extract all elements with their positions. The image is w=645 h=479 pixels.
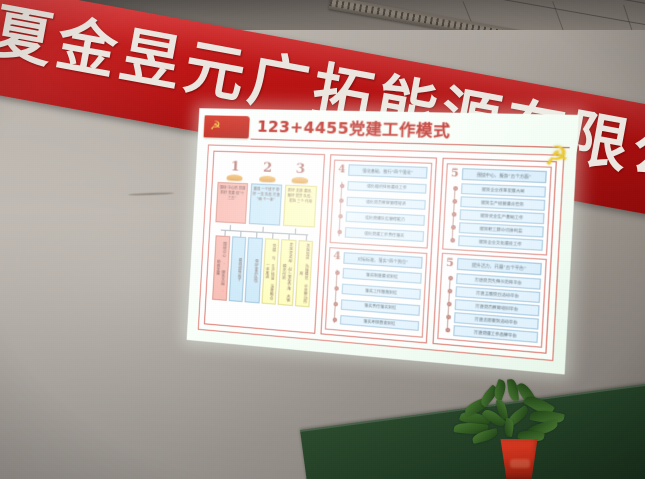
section-4b-items: 落实制度建设到位 落实工作措施到位 落实责任落实到位	[329, 265, 422, 334]
section-title: 围绕中心、服务“五个方面”	[462, 168, 547, 183]
bullet-icon	[446, 328, 451, 333]
cap-icon-3	[292, 177, 309, 184]
bullet-icon	[340, 183, 344, 187]
bullet-icon	[453, 199, 458, 204]
list-item: 强化党建工作责任落实	[338, 227, 425, 242]
section-number: 4	[338, 164, 346, 175]
number-2: 2	[263, 161, 273, 175]
list-item: 强化党建队伍管理能力	[338, 211, 425, 225]
item-label: 落实考核督查到位	[340, 315, 419, 332]
item-label: 落实工作措施到位	[342, 284, 421, 300]
panel-core-model: 1 2 3 围绕 中心抓 党建 抓好 党建 促“十三五” 建强 一个班子 带好 …	[204, 151, 325, 334]
cpc-flag-icon: ☭	[204, 115, 250, 138]
list-item: 强化组织体系建设工作	[340, 180, 427, 194]
bullet-icon	[333, 317, 337, 322]
item-label: 强化党建队伍管理能力	[346, 212, 425, 226]
panel-left-columns: 围绕中心 · 服务大局 · 助推发展 建强领导班子 带好党员队伍 党建 与 生产…	[209, 235, 316, 307]
section-4a-header: 4 强化基础、推行“四个强化”	[338, 164, 428, 179]
item-label: 强化组织体系建设工作	[347, 181, 426, 194]
section-5b-items: 打造党员先锋示范岗平台 打造主题党日活动平台 打造党员教育培训平台	[442, 271, 541, 344]
item-label: 服务企业改革发展大局	[461, 184, 546, 198]
section-number: 4	[333, 252, 341, 263]
item-label: 落实制度建设到位	[343, 268, 422, 283]
pot-highlight	[510, 459, 530, 468]
section-number: 5	[446, 258, 454, 269]
bullet-icon	[338, 230, 342, 234]
bullet-icon	[339, 199, 343, 203]
detail-column-6: 发挥党员 先锋模范 示范带动作用	[295, 240, 314, 307]
item-label: 强化党员教育管理培训	[347, 196, 426, 210]
panel-sections-right: 5 围绕中心、服务“五个方面” 服务企业改革发展大局 服务生产经营重点任务	[433, 158, 557, 354]
presentation-slide: ☭ 123+4455党建工作模式 ☭ 1 2 3	[187, 108, 579, 374]
flag-emblem-glyph: ☭	[209, 119, 222, 132]
panel-left-boxes: 围绕 中心抓 党建 抓好 党建 促“十三五” 建强 一个班子 带好 一支 队伍 …	[213, 181, 319, 229]
bullet-icon	[447, 302, 452, 307]
section-title: 强化基础、推行“四个强化”	[348, 164, 428, 179]
bullet-icon	[452, 212, 457, 217]
projection-screen: ☭ 123+4455党建工作模式 ☭ 1 2 3	[187, 108, 579, 374]
item-label: 服务安全生产基础工作	[460, 209, 545, 224]
bullet-icon	[453, 186, 458, 191]
section-4b: 4 对标标准、落实“四个到位” 落实制度建设到位 落实工作措施到位	[325, 247, 427, 338]
section-4a-items: 强化组织体系建设工作 强化党员教育管理培训 强化党建队伍管理能力	[334, 178, 427, 245]
section-5a-header: 5 围绕中心、服务“五个方面”	[451, 168, 547, 184]
section-5a: 5 围绕中心、服务“五个方面” 服务企业改革发展大局 服务生产经营重点任务	[442, 163, 552, 255]
item-label: 服务企业文化建设工作	[458, 235, 543, 250]
bullet-icon	[339, 214, 343, 218]
hammer-sickle-emblem-icon: ☭	[544, 144, 570, 171]
item-label: 强化党建工作责任落实	[345, 227, 424, 241]
section-5a-items: 服务企业改革发展大局 服务生产经营重点任务 服务安全生产基础工作	[447, 182, 546, 252]
section-5b: 5 提升活力、开展“五个平台” 打造党员先锋示范岗平台 打造主题党日活动平台	[437, 253, 547, 348]
list-item: 落实制度建设到位	[335, 268, 422, 284]
bullet-icon	[334, 302, 338, 307]
detail-column-3: 带好党员队伍	[245, 237, 263, 303]
bullet-icon	[448, 276, 453, 281]
potted-plant	[452, 383, 582, 479]
room-photo-scene: 夏金昱元广拓能源有限公司党员大会 ☭ 123+4455党建工作模式 ☭ 1 2 …	[0, 0, 645, 479]
section-number: 5	[451, 168, 459, 179]
list-item: 落实责任落实到位	[334, 299, 421, 316]
bullet-icon	[451, 225, 456, 230]
bullet-icon	[450, 238, 455, 243]
bullet-icon	[335, 286, 339, 290]
detail-column-4: 党建 与 生产经营 深度融合 一体推进	[261, 238, 279, 305]
number-1: 1	[231, 160, 241, 173]
detail-column-2: 建强领导班子	[228, 236, 246, 302]
concept-box-2: 建强 一个班子 带好 一支 队伍 打造 “两 个一体”	[249, 183, 282, 225]
section-4a: 4 强化基础、推行“四个强化” 强化组织体系建设工作 强化党员教育管理培训	[330, 160, 433, 249]
concept-box-3: 抓好 支部 建设、管好 党员 队伍、发挥 三个 作用	[283, 185, 317, 228]
slide-body: 1 2 3 围绕 中心抓 党建 抓好 党建 促“十三五” 建强 一个班子 带好 …	[198, 144, 565, 361]
bullet-icon	[335, 271, 339, 275]
item-label: 服务生产经营重点任务	[460, 197, 545, 211]
item-label: 服务职工群众切身利益	[459, 222, 544, 237]
item-label: 落实责任落实到位	[341, 299, 420, 315]
panel-sections-mid: 4 强化基础、推行“四个强化” 强化组织体系建设工作 强化党员教育管理培训	[321, 154, 438, 343]
list-item: 落实考核督查到位	[333, 314, 420, 331]
cap-icon-1	[227, 174, 243, 181]
detail-column-1: 围绕中心 · 服务大局 · 助推发展	[212, 235, 230, 300]
list-item: 落实工作措施到位	[334, 283, 421, 299]
number-3: 3	[295, 162, 305, 176]
bullet-icon	[448, 289, 453, 294]
concept-box-1: 围绕 中心抓 党建 抓好 党建 促“十三五”	[215, 182, 248, 224]
list-item: 服务生产经营重点任务	[452, 196, 545, 211]
detail-column-5: 发挥党支部 战斗堡垒作用 先锋模范作用	[278, 239, 296, 306]
list-item: 强化党员教育管理培训	[339, 196, 426, 210]
list-item: 服务企业文化建设工作	[450, 235, 543, 251]
bullet-icon	[446, 315, 451, 320]
slide-title: 123+4455党建工作模式	[251, 115, 572, 148]
list-item: 服务企业改革发展大局	[453, 183, 546, 197]
cap-icon-2	[259, 176, 275, 183]
